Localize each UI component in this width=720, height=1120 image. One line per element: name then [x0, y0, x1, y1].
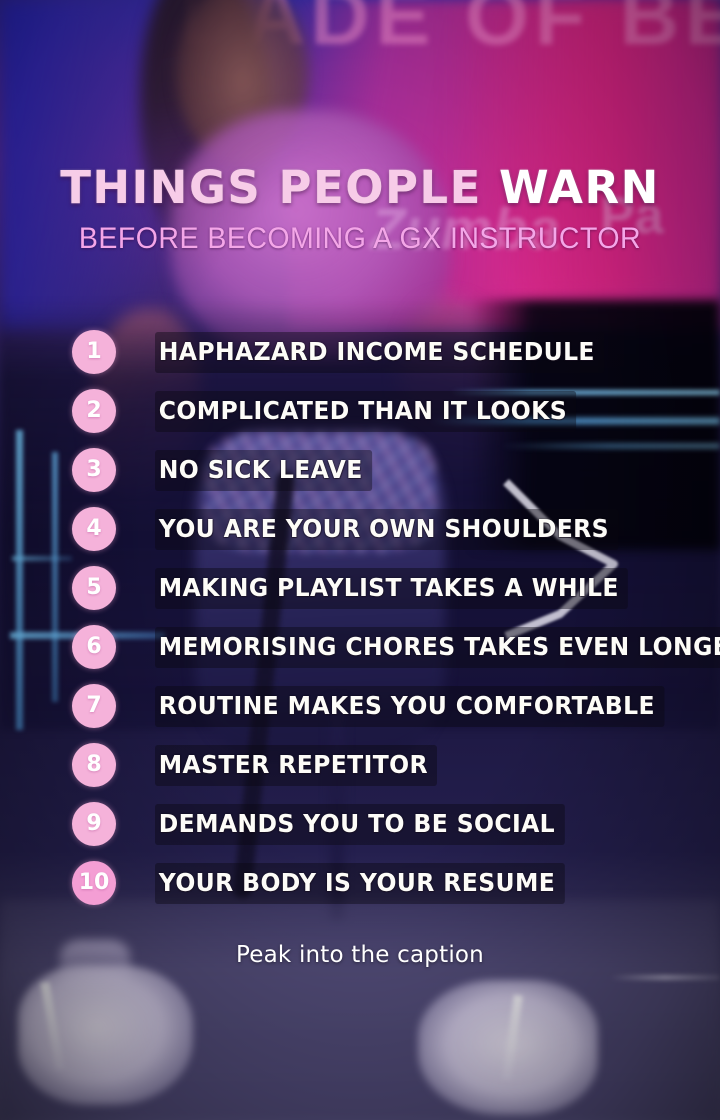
list-item[interactable]: 9 DEMANDS YOU TO BE SOCIAL: [0, 802, 720, 846]
list-item-label: DEMANDS YOU TO BE SOCIAL: [155, 804, 564, 845]
text-overlay: THINGS PEOPLE WARN BEFORE BECOMING A GX …: [0, 0, 720, 1120]
list-item[interactable]: 2 COMPLICATED THAN IT LOOKS: [0, 389, 720, 433]
list-item[interactable]: 3 NO SICK LEAVE: [0, 448, 720, 492]
list-item-label: MAKING PLAYLIST TAKES A WHILE: [155, 568, 628, 609]
caption-text: Peak into the caption: [0, 942, 720, 968]
title-block: THINGS PEOPLE WARN BEFORE BECOMING A GX …: [0, 165, 720, 256]
list-item[interactable]: 7 ROUTINE MAKES YOU COMFORTABLE: [0, 684, 720, 728]
list-item-number: 9: [72, 802, 116, 846]
list-item-label: ROUTINE MAKES YOU COMFORTABLE: [155, 686, 664, 727]
list-item-number: 5: [72, 566, 116, 610]
page-title: THINGS PEOPLE WARN: [0, 165, 720, 210]
list-item-label: YOUR BODY IS YOUR RESUME: [155, 863, 565, 904]
list-item-number: 1: [72, 330, 116, 374]
list-item[interactable]: 8 MASTER REPETITOR: [0, 743, 720, 787]
list-item-number: 6: [72, 625, 116, 669]
page-subtitle: BEFORE BECOMING A GX INSTRUCTOR: [18, 222, 702, 256]
list-item[interactable]: 1 HAPHAZARD INCOME SCHEDULE: [0, 330, 720, 374]
list-item-number: 10: [72, 861, 116, 905]
list-item-label: MEMORISING CHORES TAKES EVEN LONGER: [155, 627, 720, 668]
list-item-label: HAPHAZARD INCOME SCHEDULE: [155, 332, 604, 373]
list-item-number: 8: [72, 743, 116, 787]
list-item-number: 3: [72, 448, 116, 492]
list-item-label: MASTER REPETITOR: [155, 745, 437, 786]
list-item-number: 2: [72, 389, 116, 433]
list-item-label: COMPLICATED THAN IT LOOKS: [155, 391, 576, 432]
list-item-label: NO SICK LEAVE: [155, 450, 372, 491]
list-item[interactable]: 6 MEMORISING CHORES TAKES EVEN LONGER: [0, 625, 720, 669]
list-item-number: 7: [72, 684, 116, 728]
title-primary: THINGS PEOPLE: [60, 161, 499, 214]
list-item-number: 4: [72, 507, 116, 551]
list-item-label: YOU ARE YOUR OWN SHOULDERS: [155, 509, 618, 550]
list-item[interactable]: 5 MAKING PLAYLIST TAKES A WHILE: [0, 566, 720, 610]
list-item[interactable]: 4 YOU ARE YOUR OWN SHOULDERS: [0, 507, 720, 551]
list-item[interactable]: 10 YOUR BODY IS YOUR RESUME: [0, 861, 720, 905]
title-accent: WARN: [499, 161, 660, 214]
numbered-list: 1 HAPHAZARD INCOME SCHEDULE 2 COMPLICATE…: [0, 330, 720, 920]
video-frame: DADE OF BEIN Zumba Pa: [0, 0, 720, 1120]
